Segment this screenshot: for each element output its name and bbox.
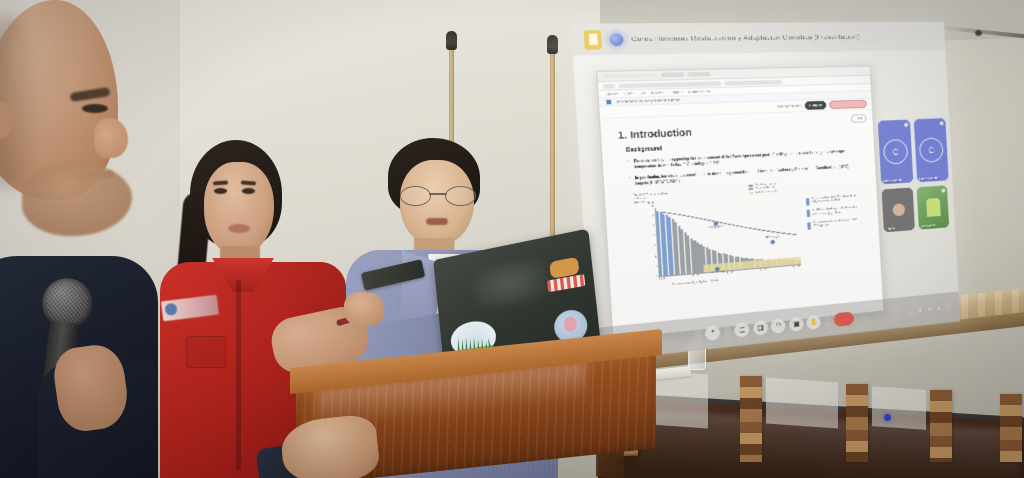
annotation-dot-icon [715, 267, 720, 272]
hand [344, 292, 384, 326]
secondary-tab[interactable] [724, 79, 782, 85]
present-button[interactable]: ▣ [789, 316, 804, 331]
table-leg [1000, 394, 1022, 462]
table-leg [740, 376, 762, 462]
mouth [426, 218, 448, 225]
legend-label: Agriculture and waste [755, 190, 777, 193]
note-bullet-icon [807, 210, 811, 218]
participant-tile[interactable]: Tomás [882, 187, 915, 232]
comments-status: Buscar comentarios [773, 104, 802, 109]
edit-mode-button[interactable]: Editar [850, 114, 866, 123]
browser-tab[interactable] [661, 72, 685, 77]
legend-swatch [748, 185, 753, 187]
side-note: Forest-rich countries can deliver up to … [813, 219, 862, 230]
menu-item-view[interactable]: Ver [640, 91, 646, 96]
projected-screen: Corea Honduras Restauración y Adaptación… [571, 22, 960, 362]
activities-button[interactable]: ◈ [937, 305, 941, 311]
shared-window-title: Corea Honduras Restauración y Adaptación… [631, 33, 860, 43]
back-icon[interactable] [603, 83, 615, 88]
share-button[interactable] [829, 99, 867, 109]
shared-window-titlebar: Corea Honduras Restauración y Adaptación… [571, 22, 946, 56]
participant-tile[interactable]: C Corea Hondu... [878, 120, 914, 185]
document-page: Editar 1. Introduction Background ✓ Fore… [600, 110, 881, 299]
blue-light-icon [884, 414, 891, 421]
eye [82, 104, 108, 113]
reactions-button[interactable]: ☺ [771, 318, 786, 333]
annotation-dot-icon [770, 240, 775, 245]
wall-board [766, 377, 838, 428]
mic-arrow-icon[interactable] [694, 327, 702, 342]
avatar: C [883, 139, 908, 165]
chart-legend: Forests and land use Energy and industry… [748, 181, 812, 196]
shirt-placket [236, 280, 241, 470]
browser-tab[interactable] [602, 73, 657, 79]
participant-name: Corea Hondu... [883, 177, 904, 182]
avatar [892, 203, 905, 216]
menu-item-tools[interactable]: Herramientas [689, 89, 711, 94]
note-bullet-icon [806, 198, 810, 206]
avatar: C [919, 137, 944, 162]
chart-axis-title: Total CO2 net emissions reductionsGt CO2… [634, 191, 682, 205]
shirt-pocket [186, 336, 226, 368]
menu-item-edit[interactable]: Editar [624, 91, 634, 96]
present-button[interactable]: Reunión [805, 101, 826, 109]
chart-plot-area: 3.6 Gt CO2 NDC target 10.8 Gt CO2 [655, 199, 801, 277]
participant-name: Corea Hondur... [919, 175, 940, 180]
pole-finial-icon [446, 31, 457, 50]
annotation-dot-icon [713, 221, 718, 226]
chat-button[interactable]: ✉ [928, 306, 932, 312]
captions-button[interactable]: ▥ [753, 320, 768, 335]
mic-status-icon [904, 122, 908, 126]
raise-hand-button[interactable]: ✋ [807, 314, 822, 329]
browser-tab[interactable] [687, 72, 710, 77]
participant-tile[interactable]: C Corea Hondur... [914, 118, 949, 182]
document-icon [584, 30, 602, 49]
video-feed [926, 198, 941, 217]
menu-item-format[interactable]: Formato [669, 90, 683, 95]
end-call-button[interactable] [834, 311, 854, 327]
camera-button[interactable]: ▢ [735, 322, 750, 337]
dog-sticker-icon [545, 256, 587, 311]
wall-board [872, 386, 926, 430]
share-notice-text: Está compartiendo una pestaña de Chrome [614, 98, 680, 104]
menu-item-insert[interactable]: Insertar [651, 90, 664, 95]
mouth [228, 224, 250, 233]
chin [22, 164, 132, 236]
note-bullet-icon [807, 222, 811, 230]
legend-swatch [749, 192, 754, 194]
checkmark-icon: ✓ [628, 176, 632, 188]
shared-document-window[interactable]: Archivo Editar Ver Insertar Formato Herr… [596, 65, 884, 339]
host-controls-button[interactable]: ☰ [945, 304, 950, 310]
chart-side-notes: Forests contribute about 33% of cost-eff… [806, 195, 862, 235]
participant-tiles: C Corea Hondu... C Corea Hondur... Tomás [878, 118, 952, 237]
microphone-button[interactable]: • [705, 325, 721, 341]
eye [214, 188, 227, 194]
info-button[interactable]: ⓘ [907, 308, 912, 316]
participant-tile[interactable]: Ana Sarmie... [917, 185, 950, 229]
more-options-button[interactable]: ⋮ [824, 313, 831, 327]
ceiling-fixture-icon [975, 30, 982, 36]
menu-item-file[interactable]: Archivo [606, 92, 619, 97]
chart-x-label: Countries ranked by mitigation potential [672, 280, 718, 286]
table-leg [930, 390, 952, 462]
pole-finial-icon [547, 35, 558, 54]
document-chart: Total CO2 net emissions reductionsGt CO2… [634, 180, 866, 295]
people-button[interactable]: ☻ [917, 307, 923, 314]
side-note: An NDC-based pathway requires land-secto… [812, 207, 861, 218]
checkmark-icon: ✓ [627, 159, 631, 171]
table-leg [846, 384, 868, 462]
share-icon [606, 100, 610, 104]
mic-status-icon [941, 188, 945, 192]
face [204, 162, 274, 256]
eye [242, 188, 255, 194]
url-field[interactable] [619, 81, 722, 88]
nose [94, 118, 128, 158]
photo-scene: Corea Honduras Restauración y Adaptación… [0, 0, 1024, 478]
legend-swatch [749, 188, 754, 190]
meeting-side-buttons[interactable]: ⓘ ☻ ✉ ◈ ☰ [907, 304, 949, 315]
person-moderator [0, 0, 182, 478]
participant-name: Tomás [886, 226, 895, 231]
participant-name: Ana Sarmie... [921, 223, 939, 228]
camera-arrow-icon[interactable] [724, 324, 732, 339]
side-note: Forests contribute about 33% of cost-eff… [812, 195, 861, 205]
mic-status-icon [939, 121, 943, 125]
glasses-icon [400, 186, 476, 204]
meet-icon [609, 33, 623, 45]
